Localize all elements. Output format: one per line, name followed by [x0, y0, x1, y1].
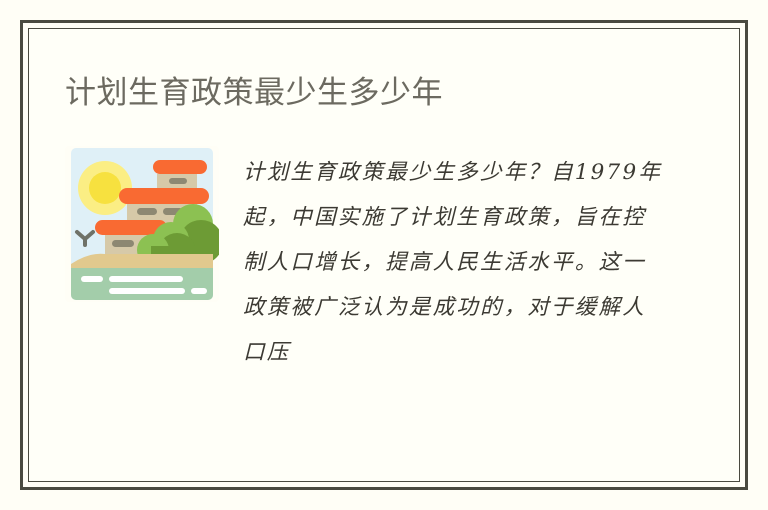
- article-frame-inner-border: 计划生育政策最少生多少年: [28, 28, 740, 482]
- page-title: 计划生育政策最少生多少年: [65, 67, 443, 112]
- article-body-text: 计划生育政策最少生多少年？自1979年起，中国实施了计划生育政策，旨在控制人口增…: [243, 150, 663, 375]
- village-landscape-icon: [65, 146, 219, 302]
- article-frame: 计划生育政策最少生多少年: [20, 20, 748, 490]
- article-thumbnail-image: [65, 146, 219, 302]
